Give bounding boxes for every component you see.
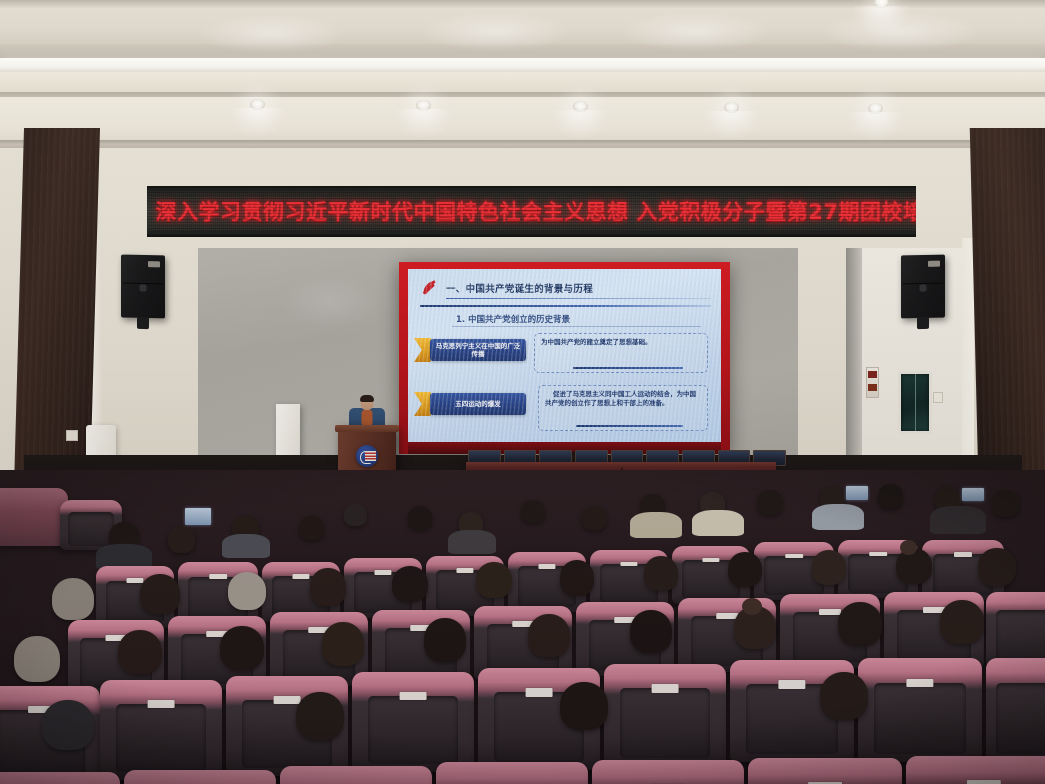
bubble-underline <box>576 425 684 427</box>
audience-head <box>940 600 984 644</box>
seat <box>604 664 726 766</box>
slide-point-label-2: 五四运动的爆发 <box>430 393 526 415</box>
seat-pad <box>116 704 206 772</box>
seat-pad <box>874 683 966 754</box>
seat-pad <box>996 683 1045 754</box>
presenter-hair <box>360 395 374 402</box>
bubble-underline <box>573 367 683 369</box>
seat-number-tag <box>274 696 301 704</box>
led-banner: 深入学习贯彻习近平新时代中国特色社会主义思想 入党积极分子暨第27期团校培训班 <box>147 186 916 237</box>
seat <box>124 770 276 784</box>
seat-number-tag <box>526 688 553 696</box>
seat <box>280 766 432 784</box>
ceiling-light-glow <box>420 12 570 52</box>
downlight-icon <box>874 0 889 8</box>
auditorium-photo: 深入学习贯彻习近平新时代中国特色社会主义思想 入党积极分子暨第27期团校培训班 … <box>0 0 1045 784</box>
seat-number-tag <box>906 679 933 687</box>
seat <box>748 758 902 784</box>
seat-number-tag <box>785 554 803 559</box>
audience-head <box>838 602 882 646</box>
audience-head <box>644 556 678 591</box>
slide-title-thick-rule <box>420 305 711 307</box>
seat <box>436 762 588 784</box>
seat-number-tag <box>126 578 143 583</box>
audience-head <box>582 506 607 530</box>
slide-title-rule <box>446 298 711 299</box>
wall-speaker-left <box>121 255 165 319</box>
seat-number-tag <box>819 609 841 615</box>
seat-number-tag <box>869 552 887 557</box>
small-window <box>898 371 932 434</box>
audience-head <box>896 548 932 584</box>
seat <box>906 756 1045 784</box>
speaker-cone <box>140 284 147 291</box>
crest-stripes <box>365 451 376 461</box>
ceiling-band-third <box>0 72 1045 94</box>
seat-number-tag <box>400 692 427 700</box>
podium-top <box>335 425 399 432</box>
audience-head <box>521 500 545 523</box>
seat-number-tag <box>209 574 227 579</box>
audience-head-gray <box>228 572 266 610</box>
audience-head <box>757 490 783 515</box>
wall-outlet <box>66 430 78 441</box>
audience-head <box>220 626 264 670</box>
seat-number-tag <box>778 680 805 688</box>
seat-pad <box>996 610 1045 662</box>
seat-number-tag <box>456 568 473 573</box>
audience-head <box>344 504 367 526</box>
audience-head <box>424 618 466 662</box>
audience-laptop <box>962 488 984 501</box>
wall-speaker-right <box>901 255 945 319</box>
slide-point-bubble-1: 为中国共产党的建立奠定了思想基础。 <box>534 333 708 373</box>
speaker-mount <box>137 317 149 329</box>
seat <box>0 772 120 784</box>
seat-number-tag <box>652 684 679 692</box>
speaker-bracket <box>928 261 940 267</box>
audience-head <box>140 574 180 614</box>
audience-head <box>528 614 570 657</box>
sign-upper-plate <box>868 371 877 378</box>
tag-arrow-wrap: 马克思列宁主义在中国的广泛传播 <box>430 339 526 361</box>
audience-shoulders <box>222 534 270 558</box>
audience-head <box>878 484 903 509</box>
audience-shoulders <box>692 510 744 536</box>
ceiling-light-glow <box>820 12 980 52</box>
ceiling-light-glow <box>196 14 346 54</box>
audience-head <box>322 622 364 666</box>
seat-number-tag <box>148 700 175 708</box>
slide-point-text-2: 促进了马克思主义同中国工人运动的结合，为中国共产党的创立作了思想上和干部上的准备… <box>545 390 701 408</box>
audience-shoulders <box>630 512 682 538</box>
slide-point-text-1: 为中国共产党的建立奠定了思想基础。 <box>541 338 701 347</box>
slide-surface: 一、中国共产党诞生的背景与历程 1. 中国共产党创立的历史背景 马克思列宁主义在… <box>408 269 721 442</box>
audience-head-gray <box>52 578 94 620</box>
led-banner-text: 深入学习贯彻习近平新时代中国特色社会主义思想 入党积极分子暨第27期团校培训班 <box>156 199 908 225</box>
downlight-icon <box>868 103 883 114</box>
speaker-mount <box>917 317 929 329</box>
seat <box>0 488 68 546</box>
slide-heading: 一、中国共产党诞生的背景与历程 <box>446 281 593 295</box>
slide-point-label-1: 马克思列宁主义在中国的广泛传播 <box>430 339 526 361</box>
seat-number-tag <box>967 780 1001 784</box>
audience-head <box>168 526 195 553</box>
audience-head <box>299 516 324 540</box>
tag-arrow-wrap: 五四运动的爆发 <box>430 393 526 415</box>
seat <box>100 680 222 780</box>
seat-number-tag <box>620 562 637 567</box>
wall-switch <box>933 392 943 403</box>
audience-head <box>820 672 868 720</box>
audience-head <box>630 610 672 653</box>
seat-number-tag <box>374 570 391 575</box>
audience-head <box>42 700 94 750</box>
seat-number-tag <box>954 552 972 557</box>
audience-head <box>392 566 428 602</box>
audience-head <box>118 630 162 674</box>
audience-head <box>560 682 608 730</box>
university-crest-icon <box>356 445 378 467</box>
audience-head <box>992 490 1020 517</box>
downlight-icon <box>416 100 431 111</box>
ceiling-light-glow <box>620 12 770 52</box>
audience-head <box>296 692 344 740</box>
slide-title-row: 一、中国共产党诞生的背景与历程 <box>420 279 711 301</box>
seat-number-tag <box>292 574 309 579</box>
seat <box>986 592 1045 668</box>
seat-pad <box>368 696 458 764</box>
seat <box>592 760 744 784</box>
downlight-icon <box>724 102 739 113</box>
slide-point-bubble-2: 促进了马克思主义同中国工人运动的结合，为中国共产党的创立作了思想上和干部上的准备… <box>538 385 708 431</box>
audience-head <box>728 552 762 587</box>
downlight-icon <box>250 99 265 110</box>
seat-number-tag <box>538 564 555 569</box>
audience-hair-bun <box>742 598 762 615</box>
seat-number-tag <box>702 558 719 563</box>
audience-head <box>560 560 594 596</box>
seat <box>858 658 982 762</box>
seat-pad <box>68 512 114 546</box>
sign-lower-plate <box>868 384 877 391</box>
slide-subheading: 1. 中国共产党创立的历史背景 <box>456 313 570 325</box>
audience-shoulders <box>812 504 864 530</box>
seat <box>352 672 474 772</box>
downlight-icon <box>573 101 588 112</box>
seat-pad <box>620 688 710 757</box>
speaker-bracket <box>148 261 160 267</box>
slide-subheading-rule <box>452 326 701 327</box>
audience-head <box>978 548 1016 586</box>
seat <box>986 658 1045 762</box>
audience-hair-bun <box>900 540 917 555</box>
audience-shoulders <box>930 506 986 534</box>
presenter-shirt <box>362 410 373 426</box>
audience-head-gray <box>14 636 60 682</box>
party-hammer-sickle-emblem-icon <box>420 279 440 297</box>
window-mullion <box>915 374 916 431</box>
audience-laptop <box>185 508 211 525</box>
audience-shoulders <box>448 530 496 554</box>
audience-head <box>408 506 432 530</box>
projection-screen: 一、中国共产党诞生的背景与历程 1. 中国共产党创立的历史背景 马克思列宁主义在… <box>399 262 730 454</box>
speaker-cone <box>920 284 927 291</box>
audience-head <box>476 562 512 598</box>
audience-head <box>310 568 346 606</box>
audience-head <box>812 550 846 585</box>
audience-area <box>0 470 1045 784</box>
audience-laptop <box>846 486 868 500</box>
fire-safety-sign <box>866 367 879 398</box>
